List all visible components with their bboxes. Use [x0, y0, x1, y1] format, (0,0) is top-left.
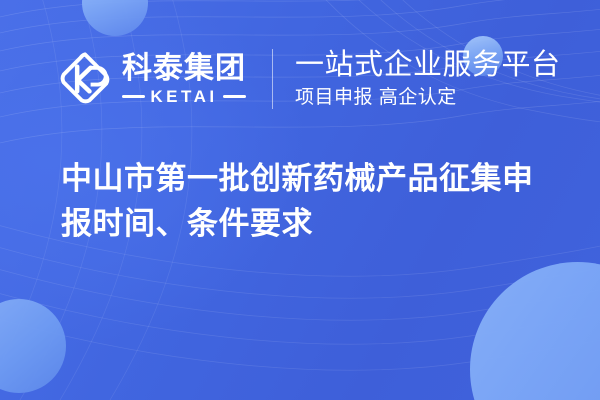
- decorative-circle-top: [82, 0, 148, 36]
- brand-text-block: 科泰集团 KETAI: [122, 53, 246, 106]
- promo-banner: 科泰集团 KETAI 一站式企业服务平台 项目申报 高企认定 中山市第一批创新药…: [0, 0, 600, 400]
- ketai-monogram-icon: [57, 51, 113, 107]
- brand-name-cn: 科泰集团: [122, 53, 246, 85]
- header-divider: [272, 49, 273, 109]
- tagline-sub: 项目申报 高企认定: [295, 86, 561, 110]
- brand-lockup: 科泰集团 KETAI: [0, 40, 246, 118]
- brand-rule-right: [223, 95, 246, 98]
- decorative-circle-bottom-right: [470, 262, 600, 400]
- decorative-circle-bottom-left: [0, 299, 66, 393]
- brand-name-en-row: KETAI: [122, 88, 246, 106]
- brand-name-en: KETAI: [150, 88, 217, 106]
- tagline-block: 一站式企业服务平台 项目申报 高企认定: [295, 49, 561, 110]
- banner-header: 科泰集团 KETAI 一站式企业服务平台 项目申报 高企认定: [0, 40, 600, 118]
- brand-rule-left: [122, 95, 145, 98]
- tagline-main: 一站式企业服务平台: [295, 49, 561, 82]
- page-title: 中山市第一批创新药械产品征集申报时间、条件要求: [61, 156, 561, 246]
